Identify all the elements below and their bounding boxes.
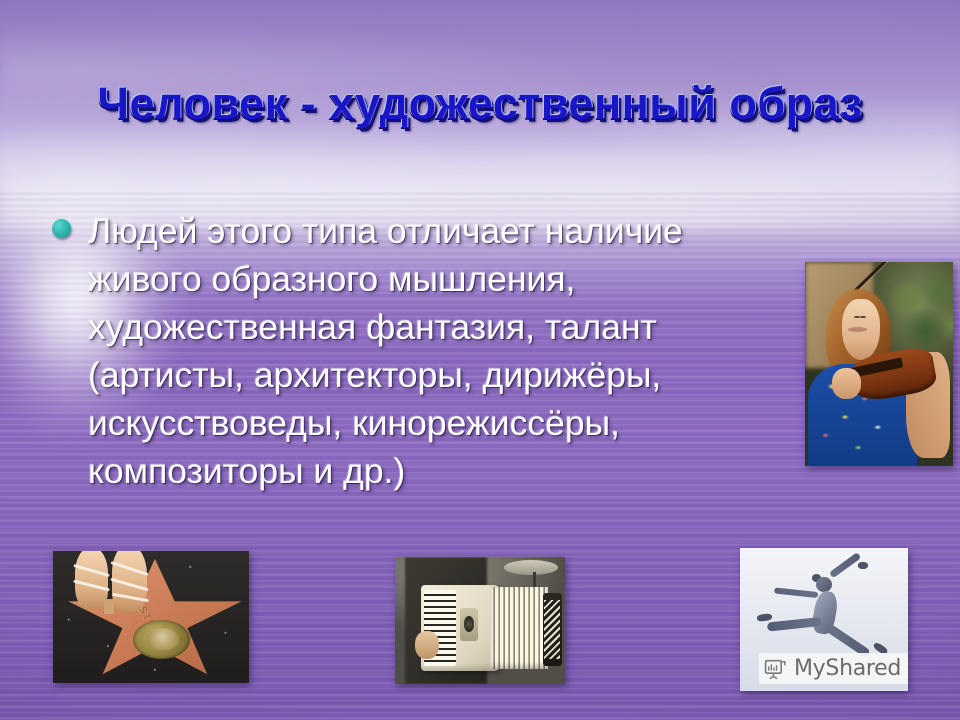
body-line: Людей этого типа отличает наличие: [88, 207, 683, 255]
cymbal-icon: [504, 560, 558, 575]
accordion-bass-side: [543, 593, 562, 667]
accordion-photo: [395, 557, 565, 684]
bullet-text: Людей этого типа отличает наличие живого…: [88, 207, 683, 495]
slide-body: Людей этого типа отличает наличие живого…: [52, 207, 792, 495]
accordion-bellows: [490, 587, 548, 668]
presentation-slide: Человек - художественный образ Людей это…: [0, 0, 960, 720]
accordion-grille: [460, 608, 479, 641]
myshared-watermark: MyShared: [759, 653, 908, 684]
walk-of-fame-star-photo: JAMES STEWART: [53, 551, 249, 683]
body-line: композиторы и др.): [88, 447, 683, 495]
ballerina-arm-raised: [829, 552, 862, 579]
myshared-label: MyShared: [794, 658, 901, 680]
star-emblem-icon: [133, 620, 190, 660]
violin-girl-hand: [832, 368, 862, 399]
ballerina-shoe-back: [756, 613, 772, 622]
violin-girl-face: [842, 299, 880, 360]
slide-title: Человек - художественный образ: [0, 78, 960, 130]
ballerina-arm-back: [773, 588, 817, 599]
presentation-board-icon: [763, 656, 788, 681]
sandal-heel: [104, 599, 114, 615]
violin-girl-eye-right: [860, 316, 866, 318]
accordion-player-hand: [415, 631, 439, 659]
violin-girl-eye-left: [854, 316, 860, 318]
bullet-list-item: Людей этого типа отличает наличие живого…: [52, 207, 792, 495]
body-line: живого образного мышления,: [88, 255, 683, 303]
body-line: художественная фантазия, талант: [88, 303, 683, 351]
ballerina-head: [816, 577, 832, 593]
bullet-dot-icon: [52, 219, 71, 238]
body-line: (артисты, архитекторы, дирижёры,: [88, 351, 683, 399]
violin-girl-photo: [805, 262, 953, 466]
body-line: искусствоведы, кинорежиссёры,: [88, 399, 683, 447]
ballerina-hand: [858, 562, 868, 569]
